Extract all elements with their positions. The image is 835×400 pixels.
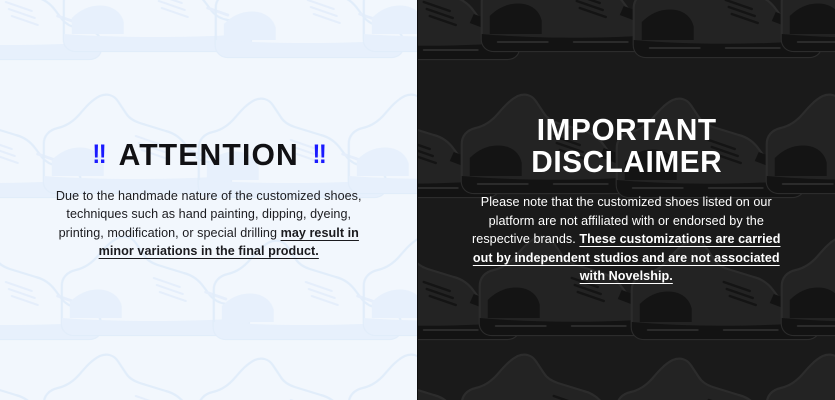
disclaimer-panel: IMPORTANT DISCLAIMER Please note that th… (418, 0, 835, 400)
disclaimer-content: IMPORTANT DISCLAIMER Please note that th… (418, 114, 835, 286)
double-exclamation-right-icon: ‼ (312, 141, 325, 169)
disclaimer-heading: IMPORTANT DISCLAIMER (446, 114, 808, 178)
double-exclamation-left-icon: ‼ (92, 141, 105, 169)
attention-heading: ‼ ATTENTION ‼ (33, 139, 384, 171)
disclaimer-banner: ‼ ATTENTION ‼ Due to the handmade nature… (0, 0, 835, 400)
attention-content: ‼ ATTENTION ‼ Due to the handmade nature… (0, 139, 418, 261)
attention-panel: ‼ ATTENTION ‼ Due to the handmade nature… (0, 0, 418, 400)
disclaimer-heading-line-2: DISCLAIMER (453, 146, 800, 178)
attention-heading-text: ATTENTION (119, 139, 299, 171)
disclaimer-heading-line-1: IMPORTANT (453, 114, 800, 146)
disclaimer-body: Please note that the customized shoes li… (461, 193, 791, 286)
attention-body: Due to the handmade nature of the custom… (49, 187, 369, 262)
panel-divider (417, 0, 418, 400)
